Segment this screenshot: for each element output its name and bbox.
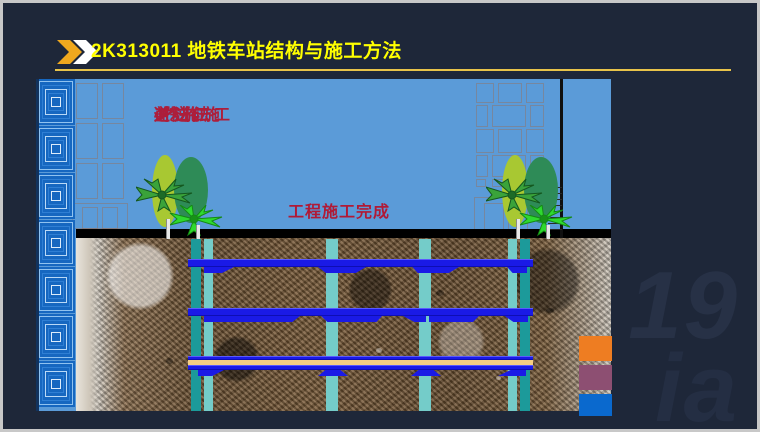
left-border-edge bbox=[36, 79, 39, 411]
strut-level-1 bbox=[188, 259, 533, 267]
maze-tile bbox=[37, 267, 75, 313]
maze-tile bbox=[37, 126, 75, 172]
page-title: 2K313011 地铁车站结构与施工方法 bbox=[91, 36, 402, 63]
watermark-line-1: 19 bbox=[628, 265, 739, 348]
watermark-line-2: ia bbox=[628, 348, 739, 431]
decorative-maze-column bbox=[36, 79, 76, 411]
swatch-orange bbox=[579, 336, 612, 361]
title-underline bbox=[55, 69, 731, 71]
maze-tile bbox=[37, 220, 75, 266]
slide-header: 2K313011 地铁车站结构与施工方法 bbox=[3, 31, 757, 75]
maze-tile bbox=[37, 173, 75, 219]
presentation-slide: 19 ia 2K313011 地铁车站结构与施工方法 bbox=[0, 0, 760, 432]
swatch-mauve bbox=[579, 365, 612, 390]
maze-tile bbox=[37, 79, 75, 125]
illustration-canvas: 4. 逆作法施工 盖挖逆作法施工 工程施工完成 bbox=[36, 79, 611, 411]
caption-top: 4. 逆作法施工 盖挖逆作法施工 bbox=[154, 101, 204, 125]
maze-tile bbox=[37, 361, 75, 407]
excavation-structure bbox=[36, 79, 611, 411]
swatch-blue bbox=[579, 394, 612, 416]
maze-tile bbox=[37, 314, 75, 360]
strut-level-2 bbox=[188, 308, 533, 316]
caption-top-overlay: 盖挖逆作法施工 bbox=[154, 101, 224, 125]
caption-bottom: 工程施工完成 bbox=[288, 198, 390, 222]
watermark: 19 ia bbox=[628, 265, 739, 430]
